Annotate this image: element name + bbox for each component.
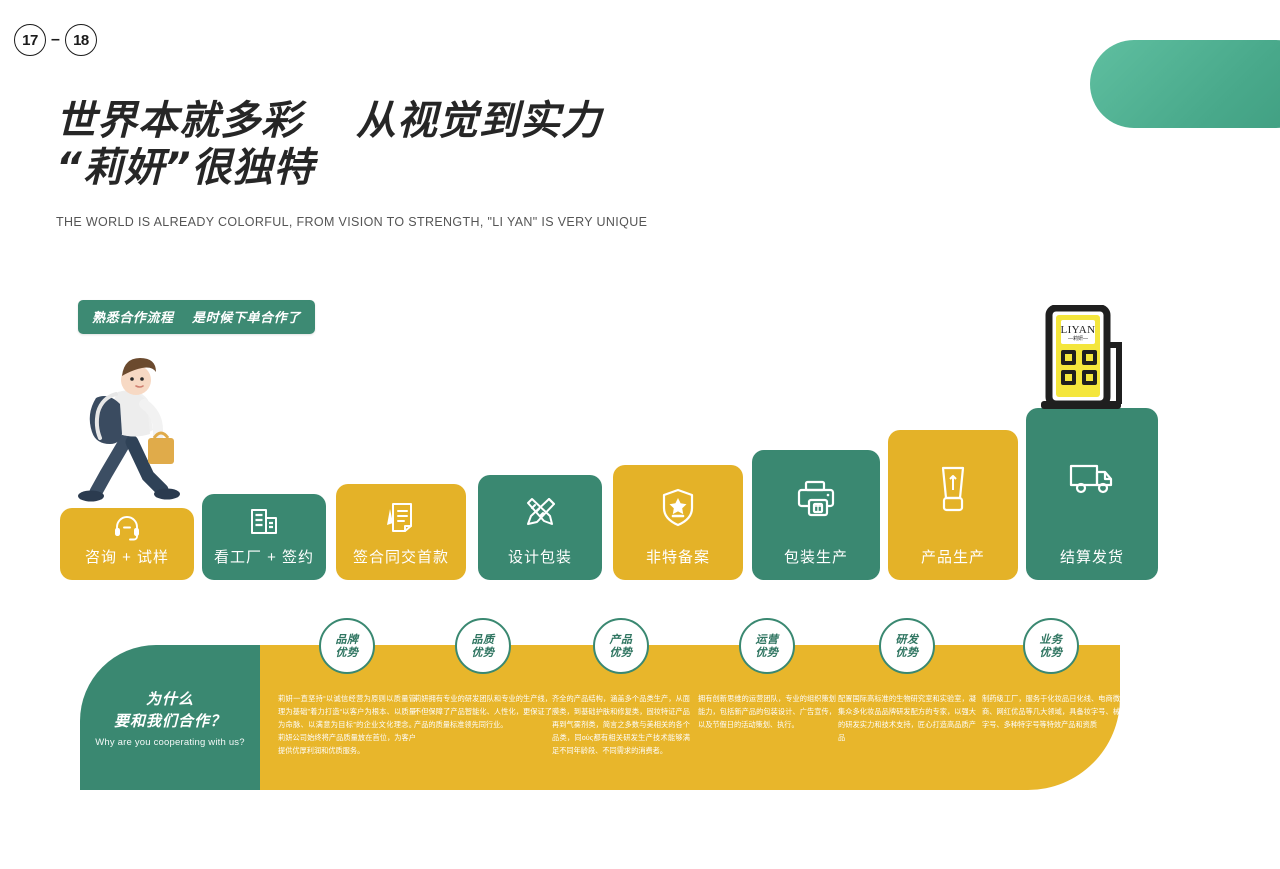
advantage-badge-4-line1: 运营 bbox=[756, 633, 779, 646]
truck-icon bbox=[1026, 408, 1158, 548]
design-icon bbox=[478, 475, 602, 548]
advantage-copy-2: 莉妍拥有专业的研发团队和专业的生产线，不但保障了产品智能化、人性化，更保证了产品… bbox=[408, 692, 558, 731]
advantage-column-2: 品质 优势 莉妍拥有专业的研发团队和专业的生产线，不但保障了产品智能化、人性化，… bbox=[408, 618, 558, 731]
advantage-copy-6: 制药级工厂，服务于化妆品日化线、电商微商、网红优品等几大领域，具备妆字号、械字号… bbox=[976, 692, 1126, 731]
advantage-badge-2[interactable]: 品质 优势 bbox=[455, 618, 511, 674]
process-steps: 咨询 + 试样 看工厂 + 签约 bbox=[0, 0, 1280, 600]
step-card-3-label: 签合同交首款 bbox=[353, 548, 449, 568]
advantage-badge-5-line1: 研发 bbox=[896, 633, 919, 646]
advantage-copy-4: 拥有创新思维的运营团队，专业的组织策划能力，包括新产品的包装设计、广告宣传，以及… bbox=[692, 692, 842, 731]
advantage-copy-1: 莉妍一直坚持“以诚信经营为原则以质量管理为基础”着力打造“以客户为根本、以质量为… bbox=[272, 692, 422, 757]
advantage-column-3: 产品 优势 齐全的产品结构，涵盖多个品类生产，从面膜类，到基础护肤和修复类，固妆… bbox=[546, 618, 696, 757]
step-card-1-label: 咨询 + 试样 bbox=[85, 548, 169, 568]
step-card-2-label: 看工厂 + 签约 bbox=[214, 548, 314, 568]
advantage-column-1: 品牌 优势 莉妍一直坚持“以诚信经营为原则以质量管理为基础”着力打造“以客户为根… bbox=[272, 618, 422, 757]
step-card-5-label: 非特备案 bbox=[646, 548, 710, 568]
step-card-3[interactable]: 签合同交首款 bbox=[336, 484, 466, 580]
step-card-6-label: 包装生产 bbox=[784, 548, 848, 568]
step-card-8-label: 结算发货 bbox=[1060, 548, 1124, 568]
advantage-badge-2-line1: 品质 bbox=[472, 633, 495, 646]
tube-icon bbox=[888, 430, 1018, 548]
shield-icon bbox=[613, 465, 743, 548]
advantage-badge-3-line2: 优势 bbox=[610, 646, 633, 659]
step-card-4[interactable]: 设计包装 bbox=[478, 475, 602, 580]
advantage-column-6: 业务 优势 制药级工厂，服务于化妆品日化线、电商微商、网红优品等几大领域，具备妆… bbox=[976, 618, 1126, 731]
advantage-column-5: 研发 优势 配置国际高标准的生物研究室和实验室，凝集众多化妆品品牌研发配方的专家… bbox=[832, 618, 982, 744]
step-card-7[interactable]: 产品生产 bbox=[888, 430, 1018, 580]
brand-logo-main: LIYAN bbox=[1061, 324, 1096, 336]
advantage-badge-6-line2: 优势 bbox=[1040, 646, 1063, 659]
advantage-badge-4-line2: 优势 bbox=[756, 646, 779, 659]
factory-icon bbox=[202, 494, 326, 548]
step-card-4-label: 设计包装 bbox=[508, 548, 572, 568]
advantage-copy-3: 齐全的产品结构，涵盖多个品类生产，从面膜类，到基础护肤和修复类，固妆特证产品再到… bbox=[546, 692, 696, 757]
contract-icon bbox=[336, 484, 466, 548]
advantage-badge-2-line2: 优势 bbox=[472, 646, 495, 659]
step-card-1[interactable]: 咨询 + 试样 bbox=[60, 508, 194, 580]
advantage-badge-1-line1: 品牌 bbox=[336, 633, 359, 646]
advantage-badge-3[interactable]: 产品 优势 bbox=[593, 618, 649, 674]
step-card-2[interactable]: 看工厂 + 签约 bbox=[202, 494, 326, 580]
printer-icon bbox=[752, 450, 880, 548]
advantage-badge-4[interactable]: 运营 优势 bbox=[739, 618, 795, 674]
step-card-5[interactable]: 非特备案 bbox=[613, 465, 743, 580]
advantage-badge-6[interactable]: 业务 优势 bbox=[1023, 618, 1079, 674]
fuel-pump-illustration: LIYAN —莉妍— bbox=[1031, 305, 1143, 413]
advantage-copy-5: 配置国际高标准的生物研究室和实验室，凝集众多化妆品品牌研发配方的专家，以强大的研… bbox=[832, 692, 982, 744]
step-card-6[interactable]: 包装生产 bbox=[752, 450, 880, 580]
advantage-badge-6-line1: 业务 bbox=[1040, 633, 1063, 646]
step-card-8[interactable]: 结算发货 bbox=[1026, 408, 1158, 580]
why-cooperate-card: 为什么 要和我们合作？ Why are you cooperating with… bbox=[80, 645, 260, 790]
poster-page: 17 – 18 世界本就多彩 从视觉到实力 “莉妍”很独特 THE WORLD … bbox=[0, 0, 1280, 869]
advantage-column-4: 运营 优势 拥有创新思维的运营团队，专业的组织策划能力，包括新产品的包装设计、广… bbox=[692, 618, 842, 731]
advantage-badge-5-line2: 优势 bbox=[896, 646, 919, 659]
why-english: Why are you cooperating with us? bbox=[95, 737, 245, 748]
advantage-badge-1-line2: 优势 bbox=[336, 646, 359, 659]
why-line-2: 要和我们合作？ bbox=[114, 710, 226, 732]
advantage-badge-1[interactable]: 品牌 优势 bbox=[319, 618, 375, 674]
advantage-badge-3-line1: 产品 bbox=[610, 633, 633, 646]
headset-icon bbox=[60, 508, 194, 548]
advantage-badge-5[interactable]: 研发 优势 bbox=[879, 618, 935, 674]
brand-logo-sub: —莉妍— bbox=[1068, 335, 1088, 342]
why-line-1: 为什么 bbox=[146, 688, 194, 710]
step-card-7-label: 产品生产 bbox=[921, 548, 985, 568]
